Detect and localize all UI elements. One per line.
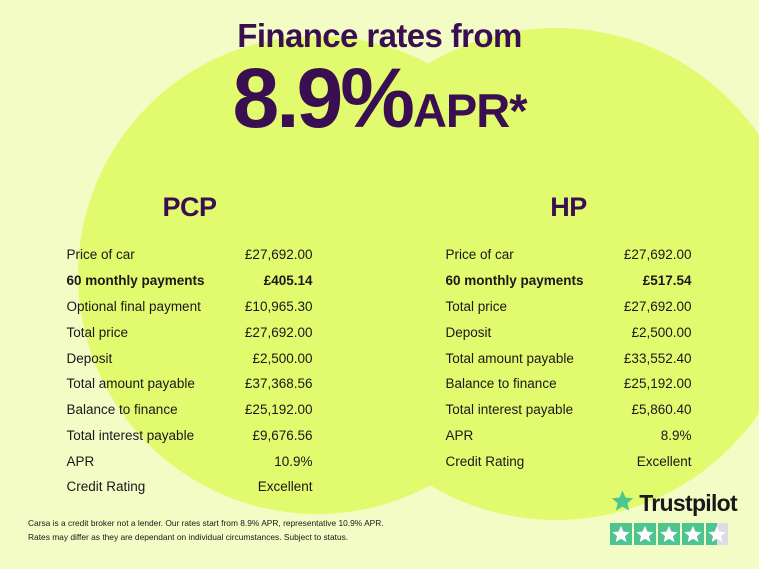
row-label: Price of car [446,247,514,262]
row-label: APR [446,428,474,443]
row-value: £27,692.00 [624,299,692,314]
column-title-pcp: PCP [0,192,379,223]
row-label: Deposit [67,351,113,366]
table-row: Total amount payable£37,368.56 [67,371,313,397]
row-label: Total amount payable [446,351,574,366]
row-value: £33,552.40 [624,351,692,366]
trustpilot-star-icon [610,489,635,518]
row-value: £27,692.00 [245,247,313,262]
trustpilot-wordmark-text: Trustpilot [639,490,737,517]
trustpilot-star-icon [634,523,656,545]
table-row: Total interest payable£5,860.40 [446,397,692,423]
row-label: Balance to finance [67,402,178,417]
row-value: Excellent [637,454,692,469]
table-row: Price of car£27,692.00 [446,242,692,268]
row-label: Deposit [446,325,492,340]
trustpilot-logo: Trustpilot [610,489,737,518]
row-label: Balance to finance [446,376,557,391]
row-value: 10.9% [274,454,312,469]
table-row: Total amount payable£33,552.40 [446,345,692,371]
trustpilot-star-icon [658,523,680,545]
table-row: Total price£27,692.00 [67,319,313,345]
row-label: APR [67,454,95,469]
hp-rows: Price of car£27,692.0060 monthly payment… [446,242,692,474]
row-label: Total amount payable [67,376,195,391]
row-value: £2,500.00 [631,325,691,340]
banner-header: Finance rates from 8.9% APR* [0,18,759,140]
disclaimer-line-2: Rates may differ as they are dependant o… [28,531,448,545]
row-value: £10,965.30 [245,299,313,314]
row-value: £5,860.40 [631,402,691,417]
row-label: Total price [446,299,508,314]
row-value: £9,676.56 [252,428,312,443]
table-row: Price of car£27,692.00 [67,242,313,268]
trustpilot-star-rating [610,523,737,545]
table-row: Optional final payment£10,965.30 [67,294,313,320]
rate-value: 8.9% [233,56,412,140]
row-label: Credit Rating [67,479,146,494]
table-row: Credit RatingExcellent [446,448,692,474]
row-label: 60 monthly payments [446,273,584,288]
finance-rates-banner: Finance rates from 8.9% APR* PCP Price o… [0,0,759,569]
row-value: £27,692.00 [624,247,692,262]
row-label: Total price [67,325,129,340]
disclaimer-text: Carsa is a credit broker not a lender. O… [28,517,448,545]
table-row: Deposit£2,500.00 [67,345,313,371]
finance-column-hp: HP Price of car£27,692.0060 monthly paym… [379,192,758,500]
table-row: Deposit£2,500.00 [446,319,692,345]
row-label: Credit Rating [446,454,525,469]
headline-rate: 8.9% APR* [0,56,759,140]
column-title-hp: HP [379,192,758,223]
table-row: Total price£27,692.00 [446,294,692,320]
table-row: APR8.9% [446,422,692,448]
row-value: Excellent [258,479,313,494]
table-row: APR10.9% [67,448,313,474]
row-value: £25,192.00 [245,402,313,417]
row-label: Optional final payment [67,299,201,314]
finance-comparison: PCP Price of car£27,692.0060 monthly pay… [0,192,759,500]
table-row: Credit RatingExcellent [67,474,313,500]
table-row: Balance to finance£25,192.00 [446,371,692,397]
finance-column-pcp: PCP Price of car£27,692.0060 monthly pay… [0,192,379,500]
row-value: £25,192.00 [624,376,692,391]
row-value: 8.9% [661,428,692,443]
row-value: £37,368.56 [245,376,313,391]
pcp-rows: Price of car£27,692.0060 monthly payment… [67,242,313,500]
row-value: £2,500.00 [252,351,312,366]
table-row: 60 monthly payments£517.54 [446,268,692,294]
row-value: £27,692.00 [245,325,313,340]
row-value: £405.14 [264,273,313,288]
row-label: Price of car [67,247,135,262]
disclaimer-line-1: Carsa is a credit broker not a lender. O… [28,517,448,531]
trustpilot-star-icon [610,523,632,545]
trustpilot-rating[interactable]: Trustpilot [610,489,737,545]
page-title: Finance rates from [0,18,759,54]
trustpilot-star-icon [682,523,704,545]
table-row: Balance to finance£25,192.00 [67,397,313,423]
rate-unit: APR* [413,87,527,134]
row-label: 60 monthly payments [67,273,205,288]
row-label: Total interest payable [446,402,574,417]
row-value: £517.54 [643,273,692,288]
trustpilot-star-icon [706,523,728,545]
row-label: Total interest payable [67,428,195,443]
table-row: Total interest payable£9,676.56 [67,422,313,448]
table-row: 60 monthly payments£405.14 [67,268,313,294]
